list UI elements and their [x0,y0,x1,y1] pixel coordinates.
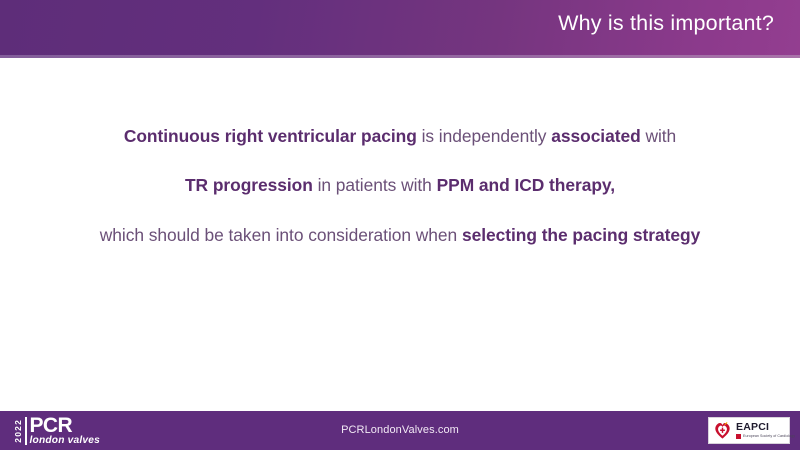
statement-line-1-text-1: is independently [417,126,551,146]
statement-line-2-bold-2: PPM and ICD therapy, [437,175,615,195]
eapci-text-block: EAPCI European Society of Cardiology [736,422,795,440]
statement-line-2-text-1: in patients with [313,175,437,195]
esc-square-icon [736,434,741,439]
statement-line-3-text-1: which should be taken into consideration… [100,225,462,245]
slide: Why is this important? Continuous right … [0,0,800,450]
statement-line-1-bold-1: Continuous right ventricular pacing [124,126,417,146]
eapci-tagline-text: European Society of Cardiology [743,435,795,439]
logo-subtitle-text: london valves [30,436,101,447]
footer-website-url: PCRLondonValves.com [0,424,800,436]
header-underline [0,55,800,58]
eapci-badge: EAPCI European Society of Cardiology [708,417,790,444]
statement-line-1: Continuous right ventricular pacing is i… [0,128,800,145]
statement-line-2-bold-1: TR progression [185,175,313,195]
heart-icon [713,421,732,440]
eapci-tagline: European Society of Cardiology [736,434,795,439]
statement-line-3-bold-1: selecting the pacing strategy [462,225,700,245]
page-title: Why is this important? [558,11,774,36]
statement-line-3: which should be taken into consideration… [0,227,800,244]
statement-line-1-bold-2: associated [551,126,640,146]
eapci-name: EAPCI [736,422,795,433]
statement-line-2: TR progression in patients with PPM and … [0,177,800,194]
statement-line-1-text-2: with [641,126,677,146]
statement-block: Continuous right ventricular pacing is i… [0,128,800,244]
